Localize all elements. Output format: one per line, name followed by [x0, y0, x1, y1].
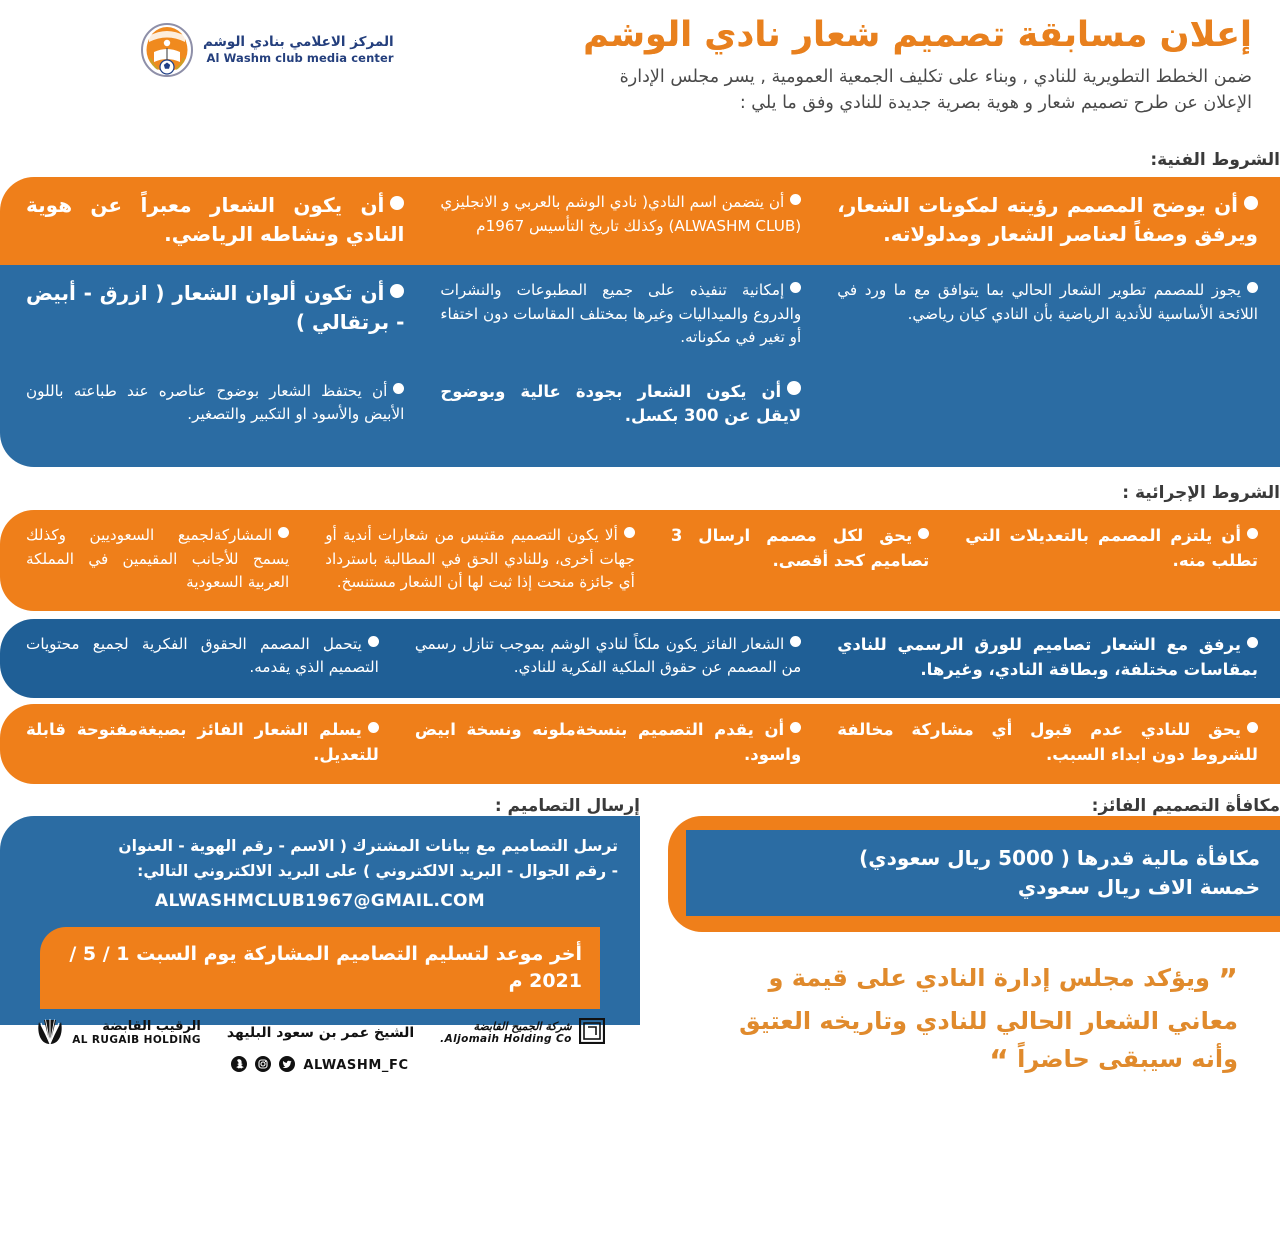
procedural-item-1-3: يحق لكل مصمم ارسال 3 تصاميم كحد أقصى. [653, 510, 947, 611]
subtitle-line-2: الإعلان عن طرح تصميم شعار و هوية بصرية ج… [372, 91, 1252, 117]
social-row: ALWASHM_FC [231, 1056, 408, 1076]
technical-item-text: أن يوضح المصمم رؤيته لمكونات الشعار، وير… [837, 191, 1258, 249]
technical-item-2-1: أن تكون ألوان الشعار ( ازرق - أبيض - برت… [0, 265, 422, 366]
bullet-icon [790, 194, 801, 205]
prize-label: مكافأة التصميم الفائز: [640, 796, 1280, 816]
technical-conditions-label: الشروط الفنية: [0, 150, 1280, 177]
media-center-brand: المركز الاعلامي بنادي الوشم Al Washm clu… [140, 22, 394, 78]
technical-item-text: أن تكون ألوان الشعار ( ازرق - أبيض - برت… [26, 279, 404, 337]
subtitle-line-1: ضمن الخطط التطويرية للنادي , وبناء على ت… [372, 65, 1252, 91]
procedural-row-1: أن يلتزم المصمم بالتعديلات التي تطلب منه… [0, 510, 1280, 611]
bullet-icon [1247, 637, 1258, 648]
brand-name-arabic: المركز الاعلامي بنادي الوشم [203, 34, 394, 51]
brand-text: المركز الاعلامي بنادي الوشم Al Washm clu… [203, 34, 394, 65]
twitter-icon[interactable] [279, 1056, 295, 1076]
procedural-item-1-1: المشاركةلجميع السعوديين وكذلك يسمح للأجا… [0, 510, 307, 611]
procedural-item-text: يحق لكل مصمم ارسال 3 تصاميم كحد أقصى. [671, 524, 929, 574]
sponsor-name-english: Aljomaih Holding Co. [440, 1033, 572, 1046]
technical-row-2: يجوز للمصمم تطوير الشعار الحالي بما يتوا… [0, 265, 1280, 366]
sponsor-logos: الرقيب القابضة AL RUGAIB HOLDING الشيخ ع… [35, 1016, 605, 1050]
bullet-icon [390, 196, 404, 210]
submission-label: إرسال التصاميم : [28, 796, 640, 816]
procedural-item-text: يسلم الشعار الفائز بصيغةمفتوحة قابلة للت… [26, 718, 379, 768]
bullet-icon [368, 722, 379, 733]
sponsor-sheikh: الشيخ عمر بن سعود البليهد [227, 1025, 414, 1041]
technical-item-text: يجوز للمصمم تطوير الشعار الحالي بما يتوا… [837, 279, 1258, 326]
bullet-icon [1247, 282, 1258, 293]
procedural-item-text: يحق للنادي عدم قبول أي مشاركة مخالفة للش… [837, 718, 1258, 768]
board-quote: ” ويؤكد مجلس إدارة النادي على قيمة و معا… [640, 958, 1280, 1084]
sponsor-text: شركة الجميح القابضة Aljomaih Holding Co. [440, 1020, 572, 1046]
al-rugaib-fan-icon [35, 1016, 65, 1050]
technical-item-1-2: أن يتضمن اسم النادي( نادي الوشم بالعربي … [422, 177, 819, 265]
submission-line-1: ترسل التصاميم مع بيانات المشترك ( الاسم … [22, 834, 618, 859]
sheikh-name-icon: الشيخ عمر بن سعود البليهد [227, 1025, 414, 1041]
technical-item-3-1: أن يحتفظ الشعار بوضوح عناصره عند طباعته … [0, 366, 422, 446]
bullet-icon [787, 381, 801, 395]
sponsor-name-english: AL RUGAIB HOLDING [72, 1034, 201, 1047]
technical-item-text: أن يتضمن اسم النادي( نادي الوشم بالعربي … [440, 191, 801, 238]
procedural-item-text: الشعار الفائز يكون ملكاً لنادي الوشم بمو… [415, 633, 801, 680]
poster-header: المركز الاعلامي بنادي الوشم Al Washm clu… [0, 0, 1280, 150]
bottom-labels: مكافأة التصميم الفائز: إرسال التصاميم : [0, 796, 1280, 816]
technical-item-2-2: إمكانية تنفيذه على جميع المطبوعات والنشر… [422, 265, 819, 366]
footer: الرقيب القابضة AL RUGAIB HOLDING الشيخ ع… [0, 1016, 640, 1076]
bullet-icon [1247, 528, 1258, 539]
procedural-item-1-4: أن يلتزم المصمم بالتعديلات التي تطلب منه… [947, 510, 1280, 611]
bullet-icon [368, 636, 379, 647]
procedural-item-3-1: يسلم الشعار الفائز بصيغةمفتوحة قابلة للت… [0, 704, 397, 784]
title-block: إعلان مسابقة تصميم شعار نادي الوشم ضمن ا… [372, 14, 1252, 117]
submission-column: ترسل التصاميم مع بيانات المشترك ( الاسم … [0, 816, 640, 1084]
procedural-item-text: يرفق مع الشعار تصاميم للورق الرسمي للناد… [837, 633, 1258, 683]
sponsor-text: الرقيب القابضة AL RUGAIB HOLDING [72, 1019, 201, 1047]
bullet-icon [790, 636, 801, 647]
quote-open-mark: ” [1218, 963, 1238, 998]
instagram-icon[interactable] [255, 1056, 271, 1076]
procedural-item-text: يتحمل المصمم الحقوق الفكرية لجميع محتويا… [26, 633, 379, 680]
sponsor-aljomaih: شركة الجميح القابضة Aljomaih Holding Co. [440, 1018, 605, 1048]
bullet-icon [790, 282, 801, 293]
bullet-icon [918, 528, 929, 539]
sponsor-name-arabic: الرقيب القابضة [72, 1019, 201, 1035]
bullet-icon [624, 527, 635, 538]
submission-email[interactable]: ALWASHMCLUB1967@GMAIL.COM [22, 891, 618, 911]
procedural-item-text: ألا يكون التصميم مقتبس من شعارات أندية أ… [325, 524, 635, 595]
prize-words-line: خمسة الاف ريال سعودي [706, 873, 1260, 902]
technical-row-3: أن يكون الشعار بجودة عالية وبوضوح لايقل … [0, 366, 1280, 468]
technical-item-3-3 [819, 366, 1280, 446]
procedural-item-2-3: يرفق مع الشعار تصاميم للورق الرسمي للناد… [819, 619, 1280, 699]
bullet-icon [278, 527, 289, 538]
procedural-item-text: أن يقدم التصميم بنسخةملونه ونسخة ابيض وا… [415, 718, 801, 768]
bullet-icon [390, 284, 404, 298]
procedural-item-text: أن يلتزم المصمم بالتعديلات التي تطلب منه… [965, 524, 1258, 574]
aljomaih-holding-icon [579, 1018, 605, 1048]
submission-panel: ترسل التصاميم مع بيانات المشترك ( الاسم … [0, 816, 640, 1025]
bullet-icon [393, 383, 404, 394]
sponsor-al-rugaib: الرقيب القابضة AL RUGAIB HOLDING [35, 1016, 201, 1050]
prize-and-quote-column: مكافأة مالية قدرها ( 5000 ريال سعودي) خم… [640, 816, 1280, 1084]
procedural-item-text: المشاركةلجميع السعوديين وكذلك يسمح للأجا… [26, 524, 289, 595]
procedural-item-3-2: أن يقدم التصميم بنسخةملونه ونسخة ابيض وا… [397, 704, 819, 784]
technical-item-text: أن يحتفظ الشعار بوضوح عناصره عند طباعته … [26, 380, 404, 427]
prize-panel: مكافأة مالية قدرها ( 5000 ريال سعودي) خم… [668, 816, 1280, 932]
procedural-item-1-2: ألا يكون التصميم مقتبس من شعارات أندية أ… [307, 510, 653, 611]
technical-item-3-2: أن يكون الشعار بجودة عالية وبوضوح لايقل … [422, 366, 819, 446]
procedural-item-3-3: يحق للنادي عدم قبول أي مشاركة مخالفة للش… [819, 704, 1280, 784]
club-crest-icon [140, 22, 194, 78]
technical-item-1-3: أن يوضح المصمم رؤيته لمكونات الشعار، وير… [819, 177, 1280, 265]
page-title: إعلان مسابقة تصميم شعار نادي الوشم [372, 14, 1252, 56]
procedural-row-3: يحق للنادي عدم قبول أي مشاركة مخالفة للش… [0, 704, 1280, 784]
bullet-icon [1247, 722, 1258, 733]
prize-inner-box: مكافأة مالية قدرها ( 5000 ريال سعودي) خم… [686, 830, 1280, 916]
brand-name-english: Al Washm club media center [203, 51, 394, 65]
technical-item-2-3: يجوز للمصمم تطوير الشعار الحالي بما يتوا… [819, 265, 1280, 366]
deadline-box: أخر موعد لتسليم التصاميم المشاركة يوم ال… [40, 927, 600, 1008]
poster-root: المركز الاعلامي بنادي الوشم Al Washm clu… [0, 0, 1280, 1238]
technical-item-text: أن يكون الشعار معبراً عن هوية النادي ونش… [26, 191, 404, 249]
prize-amount-line: مكافأة مالية قدرها ( 5000 ريال سعودي) [706, 844, 1260, 873]
procedural-row-2: يرفق مع الشعار تصاميم للورق الرسمي للناد… [0, 619, 1280, 699]
procedural-item-2-1: يتحمل المصمم الحقوق الفكرية لجميع محتويا… [0, 619, 397, 699]
submission-line-2: - رقم الجوال - البريد الالكتروني ) على ا… [22, 859, 618, 884]
bottom-area: مكافأة مالية قدرها ( 5000 ريال سعودي) خم… [0, 816, 1280, 1084]
subtitle: ضمن الخطط التطويرية للنادي , وبناء على ت… [372, 65, 1252, 117]
quote-close-mark: “ [989, 1044, 1009, 1079]
social-handle: ALWASHM_FC [303, 1058, 408, 1073]
technical-item-text: أن يكون الشعار بجودة عالية وبوضوح لايقل … [440, 380, 801, 430]
bullet-icon [1244, 196, 1258, 210]
sponsor-name-arabic: شركة الجميح القابضة [440, 1020, 572, 1033]
procedural-conditions-label: الشروط الإجرائية : [0, 467, 1280, 510]
snapchat-icon[interactable] [231, 1056, 247, 1076]
technical-row-1: أن يوضح المصمم رؤيته لمكونات الشعار، وير… [0, 177, 1280, 265]
technical-item-text: إمكانية تنفيذه على جميع المطبوعات والنشر… [440, 279, 801, 350]
technical-item-1-1: أن يكون الشعار معبراً عن هوية النادي ونش… [0, 177, 422, 265]
bullet-icon [790, 722, 801, 733]
procedural-item-2-2: الشعار الفائز يكون ملكاً لنادي الوشم بمو… [397, 619, 819, 699]
